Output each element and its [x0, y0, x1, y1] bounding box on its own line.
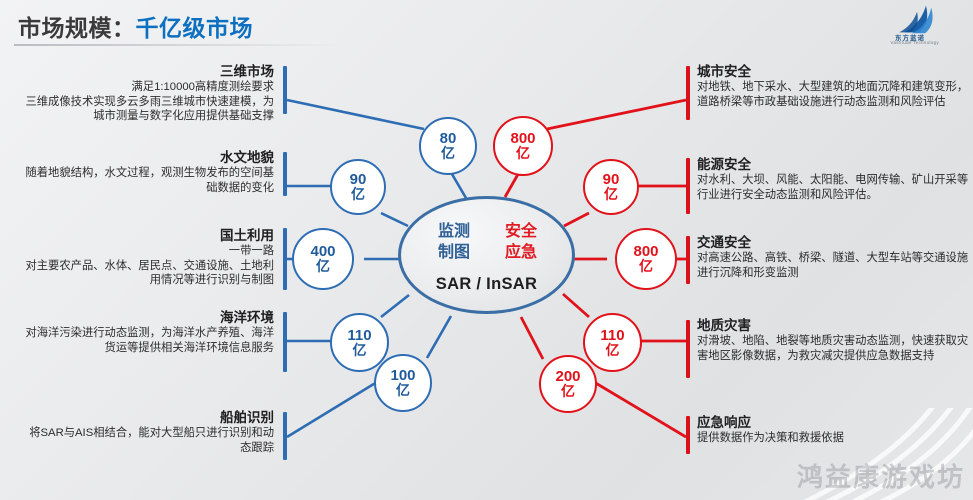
block-title: 三维市场	[22, 64, 274, 80]
bubble-value: 100	[390, 368, 415, 383]
block-title: 船舶识别	[22, 410, 274, 426]
text-block-right-1: 能源安全 对水利、大坝、风能、太阳能、电网传输、矿山开采等行业进行安全动态监测和…	[697, 157, 973, 202]
bubble-unit: 亿	[351, 187, 365, 202]
value-bubble-right-3: 110 亿	[583, 313, 642, 372]
accent-bar-left-0	[283, 66, 287, 114]
accent-bar-right-2	[686, 236, 690, 284]
bubble-value: 90	[603, 172, 620, 187]
center-hub: 监测 制图 安全 应急 SAR / InSAR	[398, 196, 575, 314]
block-title: 应急响应	[697, 415, 973, 431]
bubble-value: 110	[347, 328, 371, 343]
accent-bar-left-2	[283, 228, 287, 290]
block-body: 对水利、大坝、风能、太阳能、电网传输、矿山开采等行业进行安全动态监测和风险评估。	[697, 173, 973, 202]
value-bubble-right-1: 90 亿	[583, 159, 639, 215]
infographic-canvas: 市场规模：千亿级市场 东方蓝诺 Vastitude Technology	[0, 0, 973, 500]
accent-bar-right-0	[686, 66, 690, 120]
block-title: 城市安全	[697, 64, 973, 80]
hub-right-line1: 安全	[505, 223, 537, 240]
bubble-value: 90	[350, 172, 367, 187]
block-body: 随着地貌结构，水文过程，观测生物发布的空间基础数据的变化	[22, 166, 274, 195]
block-body: 将SAR与AIS相结合，能对大型船只进行识别和动态跟踪	[22, 426, 274, 455]
hub-left-line1: 监测	[438, 223, 470, 240]
bubble-unit: 亿	[316, 259, 330, 274]
bubble-unit: 亿	[606, 343, 620, 358]
text-block-right-0: 城市安全 对地铁、地下采水、大型建筑的地面沉降和建筑变形，道路桥梁等市政基础设施…	[697, 64, 973, 109]
value-bubble-left-4: 100 亿	[374, 354, 432, 412]
bubble-unit: 亿	[441, 146, 455, 161]
block-title: 海洋环境	[22, 310, 274, 326]
bubble-unit: 亿	[561, 384, 575, 399]
value-bubble-left-1: 90 亿	[330, 159, 386, 215]
text-block-right-4: 应急响应 提供数据作为决策和救援依据	[697, 415, 973, 446]
bubble-value: 400	[310, 244, 335, 259]
text-block-left-2: 国土利用 一带一路 对主要农产品、水体、居民点、交通设施、土地利用情况等进行识别…	[22, 228, 274, 288]
accent-bar-right-1	[686, 158, 690, 214]
value-bubble-right-0: 800 亿	[493, 116, 553, 176]
bubble-value: 110	[600, 328, 624, 343]
value-bubble-left-0: 80 亿	[419, 117, 477, 175]
value-bubble-right-2: 800 亿	[615, 228, 677, 290]
hub-right-line2: 应急	[505, 244, 537, 261]
bubble-value: 200	[555, 369, 580, 384]
text-block-right-3: 地质灾害 对滑坡、地陷、地裂等地质灾害动态监测，快速获取灾害地区影像数据，为救灾…	[697, 318, 973, 363]
bubble-unit: 亿	[516, 146, 530, 161]
block-body: 对滑坡、地陷、地裂等地质灾害动态监测，快速获取灾害地区影像数据，为救灾减灾提供应…	[697, 334, 973, 363]
bubble-unit: 亿	[396, 383, 410, 398]
bubble-unit: 亿	[353, 343, 367, 358]
hub-footer-label: SAR / InSAR	[401, 275, 572, 294]
block-title: 能源安全	[697, 157, 973, 173]
accent-bar-right-4	[686, 416, 690, 454]
block-body: 对高速公路、高铁、桥梁、隧道、大型车站等交通设施进行沉降和形变监测	[697, 251, 973, 280]
block-title: 国土利用	[22, 228, 274, 244]
bubble-value: 800	[633, 244, 658, 259]
block-body: 对海洋污染进行动态监测，为海洋水产养殖、海洋货运等提供相关海洋环境信息服务	[22, 326, 274, 355]
text-block-left-1: 水文地貌 随着地貌结构，水文过程，观测生物发布的空间基础数据的变化	[22, 150, 274, 195]
accent-bar-right-3	[686, 320, 690, 378]
text-block-right-2: 交通安全 对高速公路、高铁、桥梁、隧道、大型车站等交通设施进行沉降和形变监测	[697, 235, 973, 280]
accent-bar-left-3	[283, 312, 287, 372]
block-body: 对地铁、地下采水、大型建筑的地面沉降和建筑变形，道路桥梁等市政基础设施进行动态监…	[697, 80, 973, 109]
hub-right-label: 安全 应急	[490, 221, 552, 263]
value-bubble-left-2: 400 亿	[292, 228, 354, 290]
value-bubble-right-4: 200 亿	[539, 355, 597, 413]
block-body: 一带一路 对主要农产品、水体、居民点、交通设施、土地利用情况等进行识别与制图	[22, 244, 274, 288]
block-body: 满足1:10000高精度测绘要求 三维成像技术实现多云多雨三维城市快速建模，为城…	[22, 80, 274, 124]
bubble-unit: 亿	[604, 187, 618, 202]
accent-bar-left-4	[283, 412, 287, 460]
block-title: 交通安全	[697, 235, 973, 251]
text-block-left-0: 三维市场 满足1:10000高精度测绘要求 三维成像技术实现多云多雨三维城市快速…	[22, 64, 274, 124]
block-title: 地质灾害	[697, 318, 973, 334]
bubble-value: 80	[440, 131, 457, 146]
text-block-left-4: 船舶识别 将SAR与AIS相结合，能对大型船只进行识别和动态跟踪	[22, 410, 274, 455]
text-block-left-3: 海洋环境 对海洋污染进行动态监测，为海洋水产养殖、海洋货运等提供相关海洋环境信息…	[22, 310, 274, 355]
bubble-unit: 亿	[639, 259, 653, 274]
accent-bar-left-1	[283, 152, 287, 196]
hub-left-label: 监测 制图	[423, 221, 485, 263]
bubble-value: 800	[510, 131, 535, 146]
block-body: 提供数据作为决策和救援依据	[697, 431, 973, 446]
hub-left-line2: 制图	[438, 244, 470, 261]
block-title: 水文地貌	[22, 150, 274, 166]
